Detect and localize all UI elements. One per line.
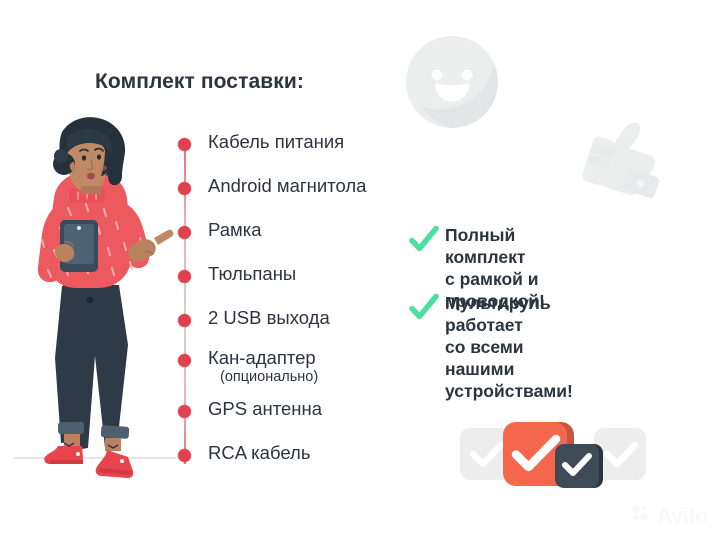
check-icon (409, 226, 439, 254)
list-item-label: RCA кабель (208, 442, 310, 464)
avito-watermark: Avito (631, 503, 708, 528)
avito-wordmark: Avito (656, 505, 708, 527)
benefit-label: Мультируль работает со всеми нашими устр… (445, 292, 573, 402)
list-item-label: Кан-адаптер (208, 347, 316, 369)
bullet-dot-icon (178, 354, 191, 367)
promo-image-canvas: Комплект поставки: Кабель питания Androi… (0, 0, 720, 540)
bullet-dot-icon (178, 405, 191, 418)
woman-pointing-with-tablet (8, 110, 178, 510)
thumbs-up-icon (572, 108, 676, 212)
list-item-label: GPS антенна (208, 398, 322, 420)
list-item-sublabel: (опционально) (220, 369, 318, 385)
avito-logo-icon (631, 503, 651, 528)
page-title: Комплект поставки: (95, 70, 304, 94)
bullet-dot-icon (178, 138, 191, 151)
bullet-dot-icon (178, 226, 191, 239)
list-item-label: Кабель питания (208, 131, 344, 153)
left-shoe (44, 443, 83, 464)
list-item-label: 2 USB выхода (208, 307, 330, 329)
bullet-dot-icon (178, 182, 191, 195)
checkbox-card-slate (555, 444, 599, 488)
list-item-label: Рамка (208, 219, 262, 241)
bullet-dot-icon (178, 449, 191, 462)
bullet-dot-icon (178, 314, 191, 327)
list-item-label: Android магнитола (208, 175, 366, 197)
smiley-face-icon (402, 32, 502, 132)
bullet-dot-icon (178, 270, 191, 283)
list-item-label: Тюльпаны (208, 263, 296, 285)
checkbox-cards-decoration (458, 414, 648, 494)
check-icon (409, 294, 439, 322)
